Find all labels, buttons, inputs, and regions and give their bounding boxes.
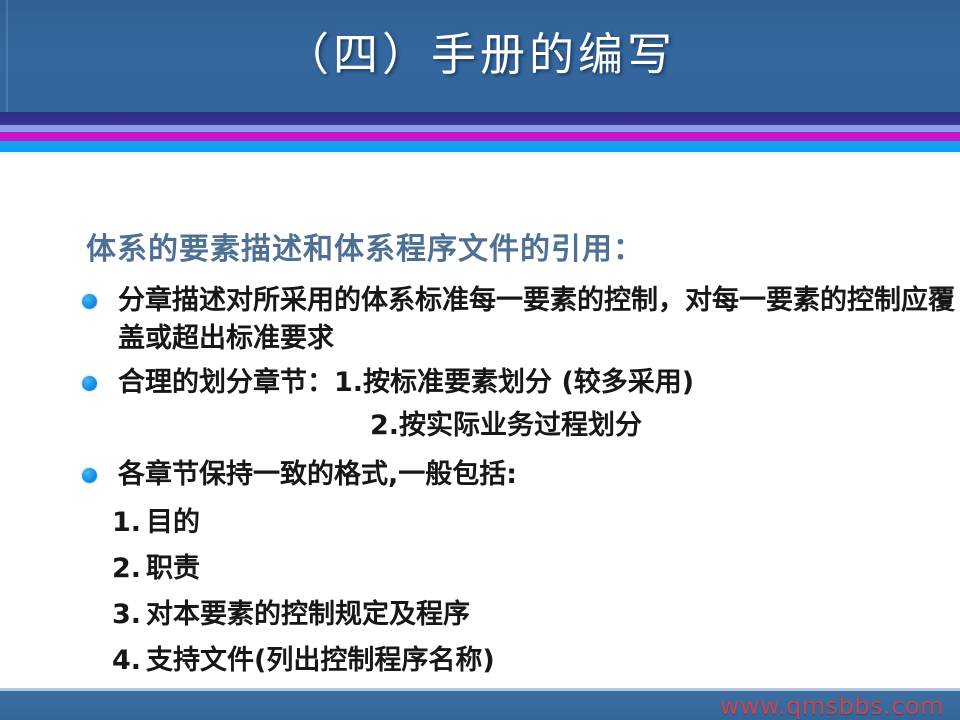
numbered-item-2: 2.职责 bbox=[112, 546, 960, 592]
bullet-item-2-continuation: 2.按实际业务过程划分 bbox=[0, 406, 960, 446]
numbered-item-2-label: 职责 bbox=[146, 553, 200, 584]
bullet-dot-icon bbox=[82, 376, 97, 391]
divider-band-cyan bbox=[0, 141, 960, 152]
bullet-list: 分章描述对所采用的体系标准每一要素的控制，对每一要素的控制应覆盖或超出标准要求 … bbox=[0, 282, 960, 684]
bullet-dot-icon bbox=[82, 468, 97, 483]
divider-band-navy bbox=[0, 112, 960, 125]
slide-content: 体系的要素描述和体系程序文件的引用： 分章描述对所采用的体系标准每一要素的控制，… bbox=[0, 158, 960, 690]
numbered-item-4-label: 支持文件(列出控制程序名称) bbox=[146, 645, 495, 676]
numbered-item-4: 4.支持文件(列出控制程序名称) bbox=[112, 638, 960, 684]
slide-canvas: （四）手册的编写 体系的要素描述和体系程序文件的引用： 分章描述对所采用的体系标… bbox=[0, 0, 960, 720]
numbered-item-3: 3.对本要素的控制规定及程序 bbox=[112, 592, 960, 638]
bullet-item-2: 合理的划分章节：1.按标准要素划分 (较多采用) bbox=[0, 364, 960, 402]
bullet-item-2-text: 合理的划分章节：1.按标准要素划分 (较多采用) bbox=[118, 364, 960, 402]
bullet-item-3-text: 各章节保持一致的格式,一般包括: bbox=[118, 456, 960, 494]
divider-band-magenta bbox=[0, 132, 960, 141]
bullet-item-1-text: 分章描述对所采用的体系标准每一要素的控制，对每一要素的控制应覆盖或超出标准要求 bbox=[118, 282, 960, 358]
bullet-item-1: 分章描述对所采用的体系标准每一要素的控制，对每一要素的控制应覆盖或超出标准要求 bbox=[0, 282, 960, 358]
slide-title: （四）手册的编写 bbox=[0, 26, 960, 84]
numbered-item-1: 1.目的 bbox=[112, 500, 960, 546]
numbered-item-2-index: 2. bbox=[112, 546, 146, 592]
numbered-item-1-label: 目的 bbox=[146, 507, 200, 538]
footer-watermark-url: www.qmsbbs.com bbox=[720, 692, 944, 720]
numbered-item-4-index: 4. bbox=[112, 638, 146, 684]
numbered-item-3-label: 对本要素的控制规定及程序 bbox=[146, 599, 470, 630]
content-subheading: 体系的要素描述和体系程序文件的引用： bbox=[86, 224, 644, 268]
bullet-dot-icon bbox=[82, 294, 97, 309]
numbered-item-1-index: 1. bbox=[112, 500, 146, 546]
divider-band-periwinkle bbox=[0, 125, 960, 132]
numbered-item-3-index: 3. bbox=[112, 592, 146, 638]
numbered-list: 1.目的 2.职责 3.对本要素的控制规定及程序 4.支持文件(列出控制程序名称… bbox=[0, 500, 960, 684]
bullet-item-3: 各章节保持一致的格式,一般包括: bbox=[0, 456, 960, 494]
